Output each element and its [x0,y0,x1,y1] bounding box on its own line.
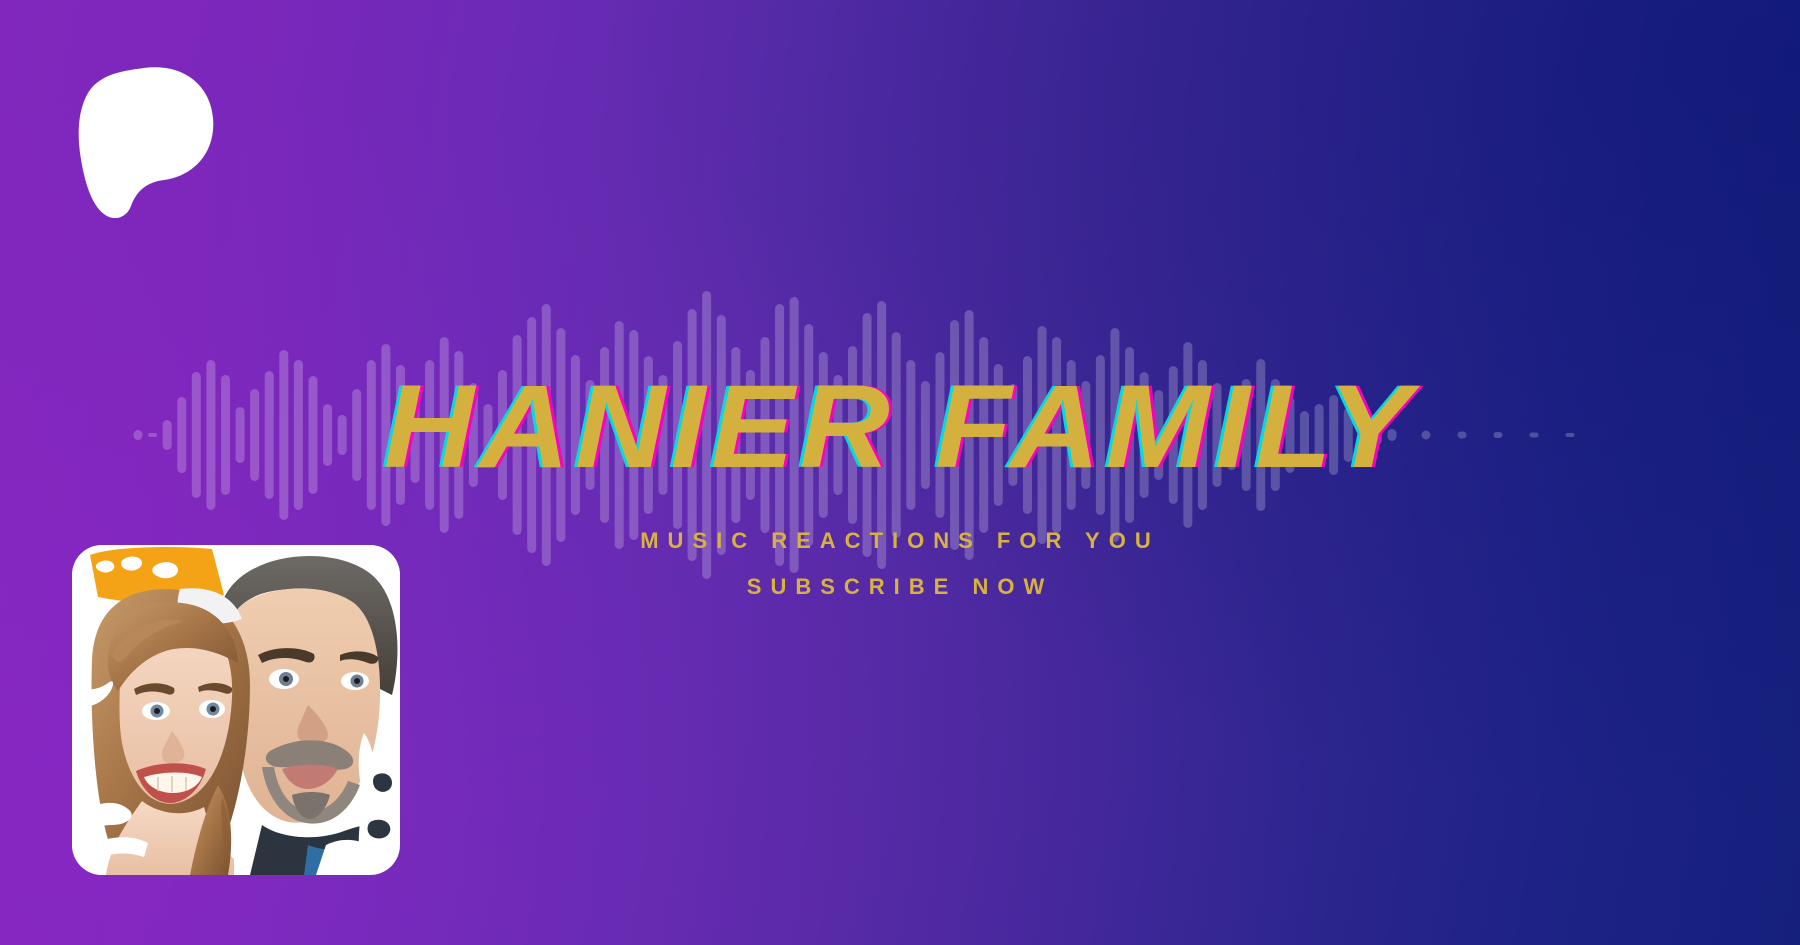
channel-avatar[interactable] [72,545,400,875]
waveform-bar [221,375,230,495]
waveform-bar [134,430,143,440]
waveform-bar [338,415,347,455]
waveform-bar [1494,432,1503,438]
waveform-bar [279,350,288,520]
waveform-bar [308,376,317,494]
waveform-bar [1458,432,1467,439]
page-title: HANIER FAMILY [384,368,1416,486]
waveform-bar [177,397,186,473]
waveform-bar [1566,433,1575,437]
waveform-bar [236,407,245,463]
waveform-bar [163,420,172,450]
tagline-subscribe: SUBSCRIBE NOW [747,574,1053,600]
waveform-bar [323,404,332,466]
patreon-p-blob-icon [79,67,214,218]
waveform-bar [265,371,274,499]
waveform-bar [352,389,361,481]
waveform-bar [367,360,376,510]
waveform-bar [294,360,303,510]
waveform-bar [192,372,201,498]
waveform-bar [148,433,157,437]
waveform-bar [1422,431,1431,440]
channel-banner: HANIER FAMILY MUSIC REACTIONS FOR YOU SU… [0,0,1800,945]
waveform-bar [250,389,259,481]
waveform-bar [1530,433,1539,438]
tagline-primary: MUSIC REACTIONS FOR YOU [640,528,1160,554]
patreon-logo[interactable] [78,66,214,218]
waveform-bar [206,360,215,510]
avatar-illustration [72,545,400,875]
